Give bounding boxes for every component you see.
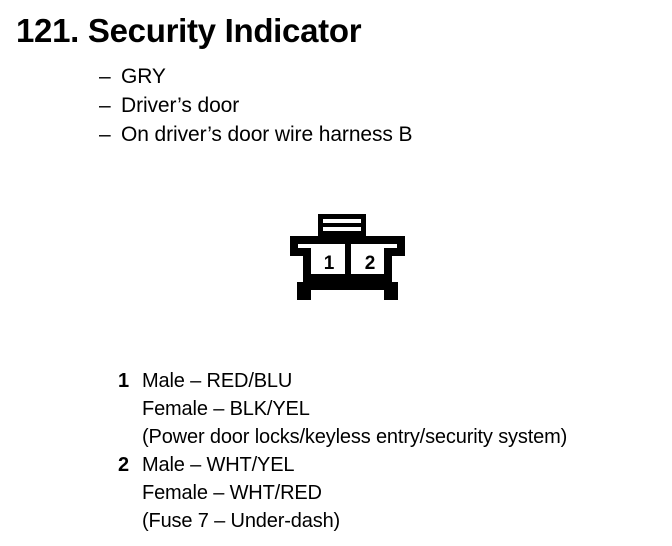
cavity-label-1: 1 [324, 253, 335, 274]
list-item: – On driver’s door wire harness B [99, 120, 639, 149]
cavity-label-2: 2 [365, 253, 376, 274]
attribute-color-code: GRY [121, 62, 166, 91]
terminal-female-row: Female – WHT/RED [118, 479, 663, 507]
terminal-group-2: 2 Male – WHT/YEL Female – WHT/RED (Fuse … [118, 451, 663, 535]
attribute-harness: On driver’s door wire harness B [121, 120, 412, 149]
dash-bullet-icon: – [99, 120, 121, 149]
attribute-location: Driver’s door [121, 91, 239, 120]
terminal-circuit-2: (Fuse 7 – Under-dash) [142, 507, 340, 535]
list-item: – GRY [99, 62, 639, 91]
terminal-male-wire-1: Male – RED/BLU [142, 367, 292, 395]
connector-outline-icon: 1 2 [285, 208, 413, 308]
page-title: 121. Security Indicator [16, 11, 361, 51]
terminal-female-row: Female – BLK/YEL [118, 395, 663, 423]
connector-attribute-list: – GRY – Driver’s door – On driver’s door… [99, 62, 639, 149]
connector-diagram: 1 2 [285, 208, 413, 308]
connector-body [290, 236, 405, 300]
cavity-marker-1: 1 [118, 367, 142, 395]
dash-bullet-icon: – [99, 91, 121, 120]
terminal-male-row: 2 Male – WHT/YEL [118, 451, 663, 479]
terminal-female-wire-2: Female – WHT/RED [142, 479, 322, 507]
terminal-male-wire-2: Male – WHT/YEL [142, 451, 294, 479]
cavity-marker-2: 2 [118, 451, 142, 479]
terminal-list: 1 Male – RED/BLU Female – BLK/YEL (Power… [118, 367, 663, 535]
terminal-male-row: 1 Male – RED/BLU [118, 367, 663, 395]
terminal-group-1: 1 Male – RED/BLU Female – BLK/YEL (Power… [118, 367, 663, 451]
terminal-female-wire-1: Female – BLK/YEL [142, 395, 310, 423]
dash-bullet-icon: – [99, 62, 121, 91]
terminal-circuit-row: (Power door locks/keyless entry/security… [118, 423, 663, 451]
locking-tab [318, 214, 366, 238]
terminal-circuit-1: (Power door locks/keyless entry/security… [142, 423, 567, 451]
terminal-circuit-row: (Fuse 7 – Under-dash) [118, 507, 663, 535]
list-item: – Driver’s door [99, 91, 639, 120]
